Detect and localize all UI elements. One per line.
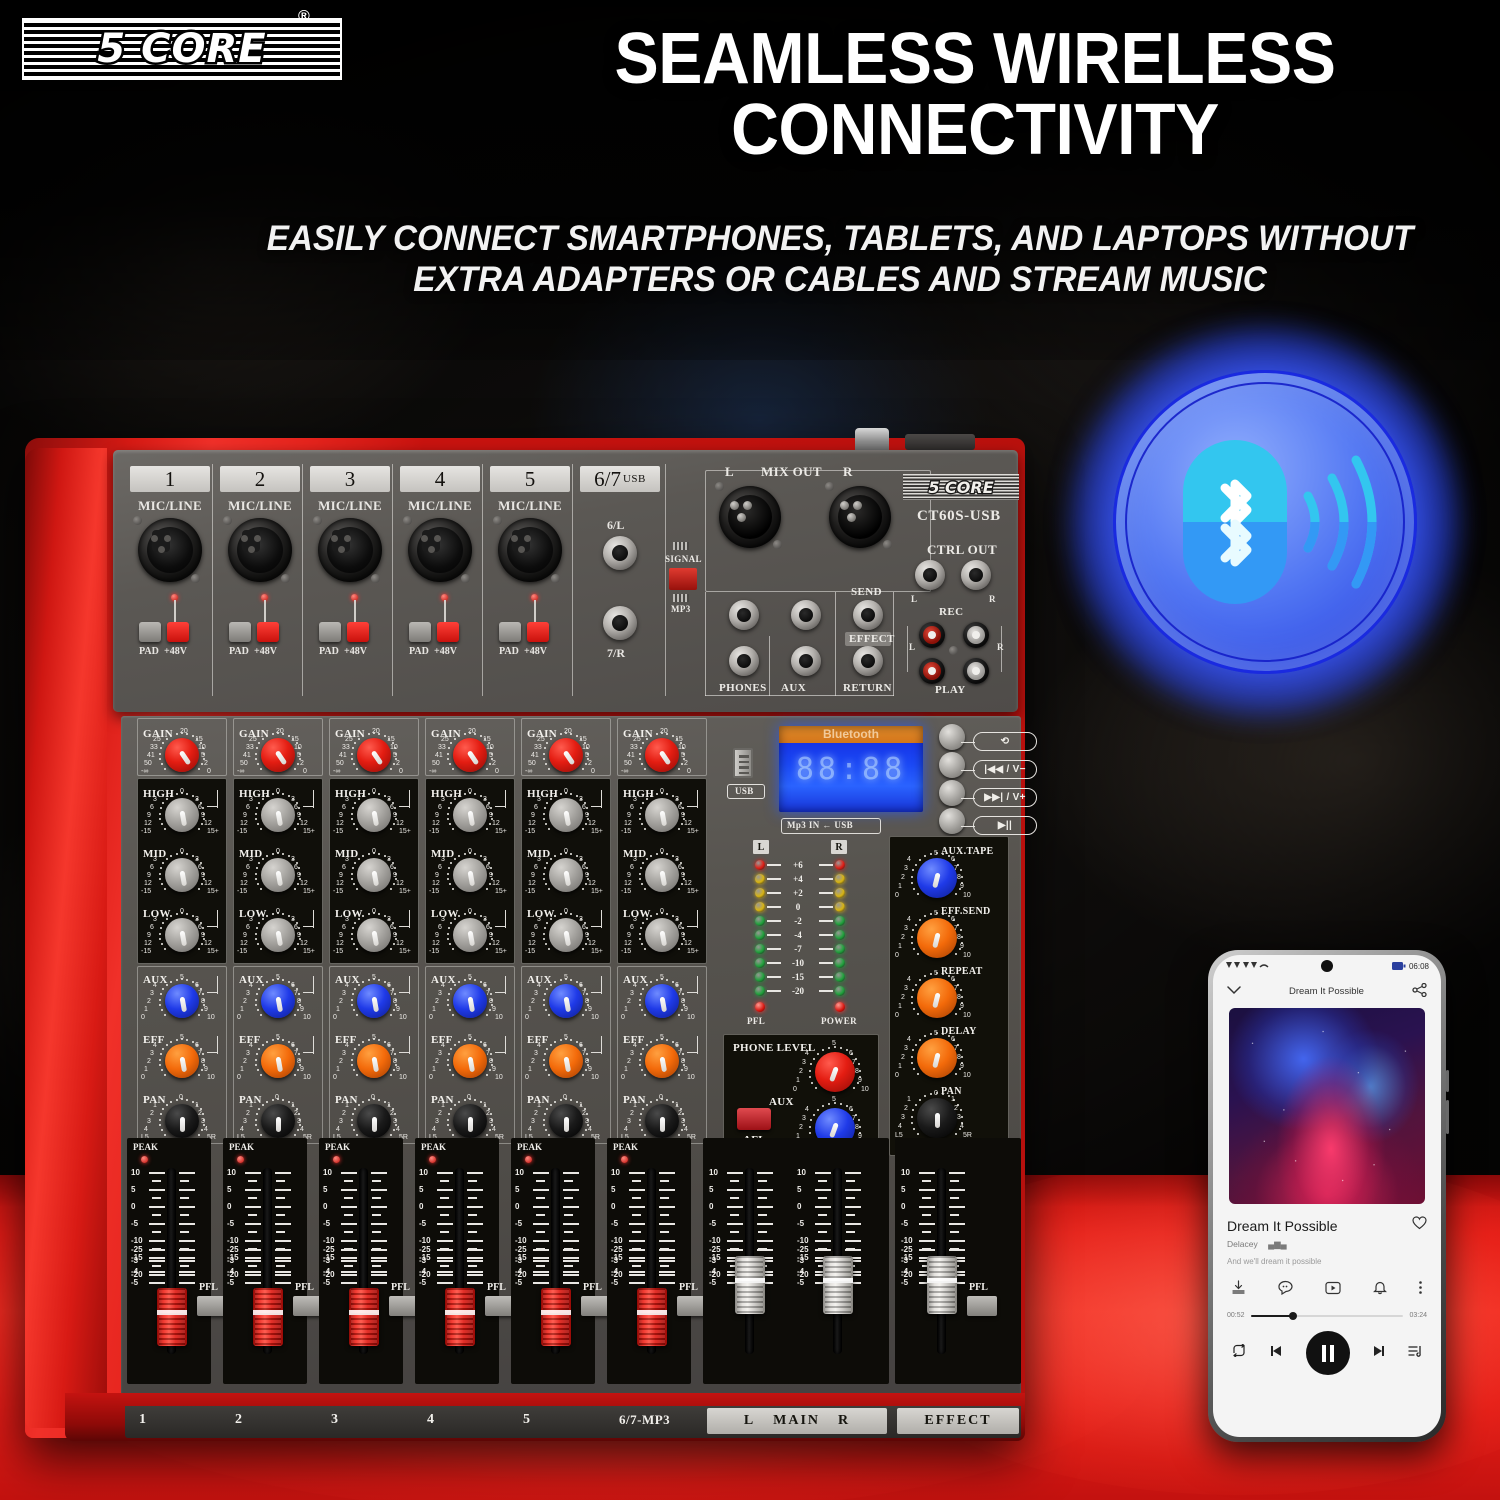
share-icon[interactable] [1412,983,1427,1000]
fader-tick-right [371,1274,387,1276]
phantom-label: +48V [254,646,277,657]
pad-button[interactable] [499,622,521,642]
knob-scale-value: 9 [339,872,343,879]
usb-line-jack-left[interactable] [603,536,637,570]
pfl-button-effect[interactable] [967,1296,997,1316]
knob-scale-dots [157,790,207,840]
media-button-0[interactable] [939,724,965,750]
knob-scale-value: 6 [483,1042,487,1049]
knob-scale-value: 7 [852,1059,856,1066]
knob-scale-value: 3 [153,916,157,923]
knob-scale-value: 1 [898,1063,902,1070]
knob-scale-value: 2 [396,760,400,767]
fader-tick-minor [248,1231,257,1233]
knob-scale-value: 3 [153,856,157,863]
fader-tick-right [949,1249,965,1251]
fader-tick-left [919,1249,935,1251]
mix-out-xlr-left[interactable] [719,486,781,548]
phone-nav-title: Dream It Possible [1289,986,1364,997]
knob-scale-value: 4 [588,1126,592,1133]
media-button-1[interactable] [939,752,965,778]
vu-led-left [755,916,765,926]
progress-bar[interactable] [1251,1315,1404,1317]
knob-scale-value: 3 [291,916,295,923]
fader-tick-left [629,1260,645,1262]
knob-scale-value: 3 [435,1118,439,1125]
video-icon[interactable] [1325,1281,1341,1300]
knob-scale-value: 5 [934,910,938,917]
pad-button[interactable] [319,622,341,642]
fader-tick-right [275,1240,291,1242]
knob-scale-value: 0 [934,1090,938,1097]
knob-bracket [495,926,505,927]
fader-tick-left [245,1282,261,1284]
knob-scale-value: 1 [336,1006,340,1013]
fader-handle-line [637,1310,667,1315]
knob-scale-value: 20 [180,728,188,735]
vu-scale-value: -15 [781,972,815,982]
effect-fader-plate: EFFECT [897,1408,1019,1434]
knob-scale-value: 3 [675,796,679,803]
fader-bottom-label-5: 5 [523,1412,531,1428]
knob-scale-value: 4 [537,1042,541,1049]
fader-scale-value: -10 [797,1236,809,1245]
ctrl-out-right-label: R [989,594,996,604]
knob-scale-value: 3 [345,856,349,863]
afl-button[interactable] [737,1108,771,1130]
fader-tick-minor [468,1180,477,1182]
pad-button[interactable] [409,622,431,642]
fader-tick-left [629,1257,645,1259]
knob-scale-value: 9 [147,932,151,939]
knob-scale-value: 3 [195,796,199,803]
knob-scale-value: 5 [832,1040,836,1047]
more-icon[interactable] [1418,1280,1423,1300]
channel-strip-2: 2MIC/LINEPAD+48V [217,466,303,694]
knob-bracket [303,926,313,927]
knob-scale-value: 3 [675,916,679,923]
mp3-indicator-button[interactable] [669,568,697,590]
vu-dash-left [767,920,781,922]
xlr-pin [511,535,518,542]
fader-tick-minor [372,1265,381,1267]
knob-scale-value: -15 [333,888,343,895]
headline-line-2: CONNECTIVITY [510,95,1439,166]
phantom-label: +48V [434,646,457,657]
fader-tick-left [727,1172,743,1174]
fader-tick-right [659,1274,675,1276]
knob-scale-value: 8 [585,998,589,1005]
fader-tick-left [533,1271,549,1273]
fader-scale-value: -5 [611,1278,618,1287]
knob-scale-value: 9 [243,872,247,879]
knob-scale-value: 5 [934,970,938,977]
knob-scale-value: 12 [240,820,248,827]
xlr-combo-jack[interactable] [408,518,472,582]
knob-scale-value: 3 [630,990,634,997]
knob-scale-value: 15+ [495,828,507,835]
xlr-pin [151,535,158,542]
knob-scale-value: 1 [432,1066,436,1073]
knob-bracket [313,976,314,994]
repeat-icon[interactable] [1231,1344,1247,1362]
fader-tick-minor [248,1180,257,1182]
knob-scale-value: 4 [537,982,541,989]
knob-scale-value: 6 [387,982,391,989]
knob-scale-value: 9 [681,932,685,939]
fader-tick-minor [818,1197,827,1199]
knob-scale-value: 6 [483,982,487,989]
knob-scale-value: 15+ [207,948,219,955]
phantom-power-button[interactable] [257,622,279,642]
collapse-chevron-icon[interactable] [1227,986,1241,998]
peak-label: PEAK [325,1142,350,1152]
fader-tick-minor [536,1231,545,1233]
phantom-power-button[interactable] [527,622,549,642]
knob-scale-value: 8 [297,1058,301,1065]
knob-scale-value: 3 [483,916,487,923]
fader-handle-ch1[interactable] [157,1288,187,1346]
fader-tick-minor [564,1180,573,1182]
fader-scale-value: -10 [227,1236,239,1245]
knob-scale-value: 9 [300,1066,304,1073]
mounting-screw [371,574,380,583]
fader-handle-line [735,1278,765,1283]
knob-scale-value: 0 [207,768,211,775]
knob-scale-value: 8 [489,998,493,1005]
knob-scale-value: 6 [951,856,955,863]
knob-scale-value: 8 [297,998,301,1005]
mix-out-xlr-right[interactable] [829,486,891,548]
rec-rca-right[interactable] [963,622,989,648]
fader-scale-value: 10 [709,1168,718,1177]
knob-channel-4: GAIN-∞50413325025101520HIGH-151296315+12… [423,718,519,1138]
vu-meter-panel: LR+6+4+20-2-4-7-10-15-20PFLPOWER [725,840,875,1018]
xlr-pin [434,535,441,542]
fader-handle-ch2[interactable] [253,1288,283,1346]
ctrl-out-jack-left[interactable] [915,560,945,590]
fader-tick-right [467,1257,483,1259]
playback-progress[interactable]: 00:52 03:24 [1213,1300,1441,1319]
phantom-power-button[interactable] [437,622,459,642]
knob-scale-value: 0 [467,1094,471,1101]
comment-icon[interactable] [1278,1280,1294,1300]
fader-handle-ch5[interactable] [541,1288,571,1346]
knob-scale-value: 6 [246,924,250,931]
bell-icon[interactable] [1373,1280,1387,1300]
mix-out-right-label: R [843,464,853,480]
knob-scale-value: 12 [432,880,440,887]
front-camera-icon [1321,960,1333,972]
fader-handle-main-r[interactable] [823,1256,853,1314]
knob-scale-dots [541,790,591,840]
favorite-heart-icon[interactable] [1412,1216,1427,1235]
progress-handle[interactable] [1289,1312,1297,1320]
vu-led-left [755,930,765,940]
fader-tick-left [919,1189,935,1191]
play-rca-left[interactable] [919,658,945,684]
knob-scale-value: 0 [333,1074,337,1081]
fader-tick-minor [660,1197,669,1199]
knob-scale-value: 2 [339,1058,343,1065]
knob-scale-value: 10 [963,892,971,899]
phantom-power-button[interactable] [347,622,369,642]
fader-tick-right [563,1271,579,1273]
peak-label: PEAK [613,1142,638,1152]
fader-tick-minor [758,1197,767,1199]
knob-scale-value: 25 [633,736,641,743]
knob-scale-value: -15 [141,828,151,835]
knob-bracket [601,790,602,808]
fader-tick-right [845,1172,861,1174]
knob-scale-value: 4 [684,1126,688,1133]
knob-scale-value: 3 [387,916,391,923]
knob-scale-value: 9 [201,932,205,939]
knob-channel-3: GAIN-∞50413325025101520HIGH-151296315+12… [327,718,423,1138]
knob-scale-value: 6 [198,924,202,931]
pause-button[interactable] [1306,1331,1350,1375]
headline-line-1: SEAMLESS WIRELESS [510,24,1439,95]
knob-scale-value: 3 [249,856,253,863]
usb-port[interactable] [733,748,753,778]
fader-tick-minor [950,1231,959,1233]
fader-tick-minor [344,1214,353,1216]
fader-handle-ch3[interactable] [349,1288,379,1346]
fader-scale-value: 10 [227,1168,236,1177]
fader-scale-value: 10 [131,1168,140,1177]
knob-scale-value: 2 [147,1058,151,1065]
channel-divider [392,464,393,696]
fader-tick-left [245,1223,261,1225]
knob-scale-value: 7 [582,990,586,997]
fader-scale-value: -4 [515,1267,522,1276]
fader-scale-value: 5 [323,1185,327,1194]
knob-scale-value: 3 [441,916,445,923]
fader-handle-ch6[interactable] [637,1288,667,1346]
fader-tick-left [437,1240,453,1242]
knob-scale-value: 10 [687,1074,695,1081]
panel-outline-v1 [705,592,706,696]
fader-tick-right [659,1189,675,1191]
fader-handle-ch4[interactable] [445,1288,475,1346]
knob-scale-value: 15+ [495,888,507,895]
knob-scale-value: 10 [207,1014,215,1021]
knob-scale-value: 0 [564,788,568,795]
knob-scale-value: 4 [805,1106,809,1113]
fader-tick-minor [564,1231,573,1233]
ctrl-out-jack-right[interactable] [961,560,991,590]
power-led [835,1002,845,1012]
song-artist: Delacey ▄▆▄ [1227,1239,1427,1250]
usb-line-jack-right[interactable] [603,606,637,640]
fader-tick-minor [152,1197,161,1199]
ctrl-out-left-label: L [911,594,917,604]
fader-tick-left [149,1282,165,1284]
xlr-combo-jack[interactable] [498,518,562,582]
knob-scale-value: 12 [492,880,500,887]
knob-scale-value: 2 [901,1054,905,1061]
trs-jack-bottom-0[interactable] [729,646,759,676]
channel-divider [665,464,666,696]
vu-scale-value: -4 [781,930,815,940]
media-button-label-2: ▶▶| / V+ [973,788,1037,807]
fader-scale-value: 0 [419,1202,423,1211]
fader-tick-left [533,1189,549,1191]
xlr-out-pin [730,501,739,510]
fader-handle-effect[interactable] [927,1256,957,1314]
fader-tick-left [341,1206,357,1208]
fader-tick-left [629,1282,645,1284]
main-plate-left: L [744,1413,755,1429]
knob-bracket [303,992,313,993]
knob-scale-value: 1 [907,1096,911,1103]
knob-scale-value: 15+ [207,888,219,895]
knob-scale-value: 9 [435,812,439,819]
knob-scale-value: 3 [387,856,391,863]
knob-scale-value: 33 [630,744,638,751]
fader-scale-value: -5 [901,1278,908,1287]
knob-scale-value: 50 [432,760,440,767]
knob-scale-value: 6 [294,924,298,931]
knob-scale-value: 6 [534,804,538,811]
trs-jack-top-0[interactable] [729,600,759,630]
knob-bracket [697,1036,698,1054]
fader-tick-minor [758,1214,767,1216]
vu-led-left [755,860,765,870]
send-label: SEND [851,586,882,598]
fader-tick-right [467,1271,483,1273]
pad-button[interactable] [139,622,161,642]
knob-scale-value: 12 [300,880,308,887]
fader-tick-right [275,1274,291,1276]
fader-tick-minor [660,1214,669,1216]
knob-scale-value: 3 [249,796,253,803]
fader-tick-minor [372,1180,381,1182]
media-button-3[interactable] [939,808,965,834]
fader-tick-right [467,1282,483,1284]
knob-scale-value: 7 [954,985,958,992]
mp3-label: MP3 [671,604,691,614]
fader-tick-minor [758,1231,767,1233]
knob-scale-dots [157,910,207,960]
next-icon[interactable] [1371,1344,1386,1363]
fader-tick-minor [818,1214,827,1216]
fader-scale-value: -3 [901,1256,908,1265]
knob-scale-value: 0 [564,908,568,915]
knob-scale-value: 10 [399,1074,407,1081]
phone-volume-up-button[interactable] [1446,1070,1449,1092]
vu-led-left [755,944,765,954]
knob-scale-value: 9 [531,932,535,939]
trs-jack-bottom-1[interactable] [791,646,821,676]
knob-scale-value: 8 [489,1058,493,1065]
signal-bars-icon [673,542,689,550]
rec-rca-left[interactable] [919,622,945,648]
pad-button[interactable] [229,622,251,642]
fader-tick-left [149,1249,165,1251]
knob-scale-dots [445,976,495,1026]
fader-tick-left [341,1240,357,1242]
xlr-pin [248,546,255,553]
knob-scale-value: 8 [855,1124,859,1131]
trs-jack-top-2[interactable] [853,600,883,630]
fader-tick-minor [818,1180,827,1182]
knob-scale-value: 12 [204,820,212,827]
fader-scale-value: 0 [323,1202,327,1211]
knob-scale-value: 12 [396,820,404,827]
knob-scale-value: 25 [345,736,353,743]
knob-scale-dots [445,1036,495,1086]
ctrl-out-label: CTRL OUT [927,542,997,558]
play-rca-right[interactable] [963,658,989,684]
fader-tick-left [815,1240,831,1242]
knob-scale-value: 2 [243,1058,247,1065]
knob-bracket [601,910,602,928]
download-icon[interactable] [1231,1280,1246,1300]
knob-scale-dots [253,790,303,840]
mounting-screw [715,482,724,491]
fader-tick-minor [276,1180,285,1182]
fader-tick-minor [818,1231,827,1233]
knob-scale-value: 9 [588,1006,592,1013]
knob-scale-value: 8 [201,998,205,1005]
knob-bracket [601,1036,602,1054]
knob-scale-value: 6 [150,804,154,811]
xlr-pin [421,535,428,542]
knob-scale-value: 12 [492,940,500,947]
channel-strip-5: 5MIC/LINEPAD+48V [487,466,573,694]
knob-scale-value: 9 [393,932,397,939]
knob-scale-value: 0 [371,1094,375,1101]
knob-scale-value: 3 [904,865,908,872]
knob-scale-value: 1 [291,1102,295,1109]
fader-tick-left [919,1172,935,1174]
trs-jack-top-1[interactable] [791,600,821,630]
knob-scale-value: 15+ [687,828,699,835]
fader-tick-minor [180,1231,189,1233]
knob-scale-value: 12 [144,820,152,827]
knob-scale-value: 4 [624,1126,628,1133]
media-button-2[interactable] [939,780,965,806]
fader-tick-minor [276,1214,285,1216]
xlr-combo-jack[interactable] [318,518,382,582]
signal-icons [1225,960,1271,972]
artist-name: Delacey [1227,1239,1258,1249]
xlr-combo-jack[interactable] [138,518,202,582]
fader-scale-value: -5 [227,1278,234,1287]
knob-scale-value: -15 [237,828,247,835]
knob-scale-value: 15+ [687,948,699,955]
queue-icon[interactable] [1408,1344,1423,1363]
previous-icon[interactable] [1269,1344,1284,1363]
knob-scale-value: 1 [796,1077,800,1084]
fader-tick-minor [372,1231,381,1233]
phone-power-button[interactable] [1446,1100,1449,1134]
knob-scale-value: 4 [960,1123,964,1130]
fader-tick-minor [440,1214,449,1216]
fader-tick-right [275,1257,291,1259]
xlr-combo-jack[interactable] [228,518,292,582]
pad-label: PAD [409,646,429,657]
knob-scale-value: 4 [249,1042,253,1049]
trs-jack-bottom-2[interactable] [853,646,883,676]
fader-handle-main-l[interactable] [735,1256,765,1314]
knob-scale-value: 4 [633,1042,637,1049]
vu-scale-value: 0 [781,902,815,912]
knob-scale-value: 9 [627,872,631,879]
phantom-power-button[interactable] [167,622,189,642]
smartphone-mockup: 06:08 Dream It Possible Dream It Possibl… [1208,950,1446,1442]
